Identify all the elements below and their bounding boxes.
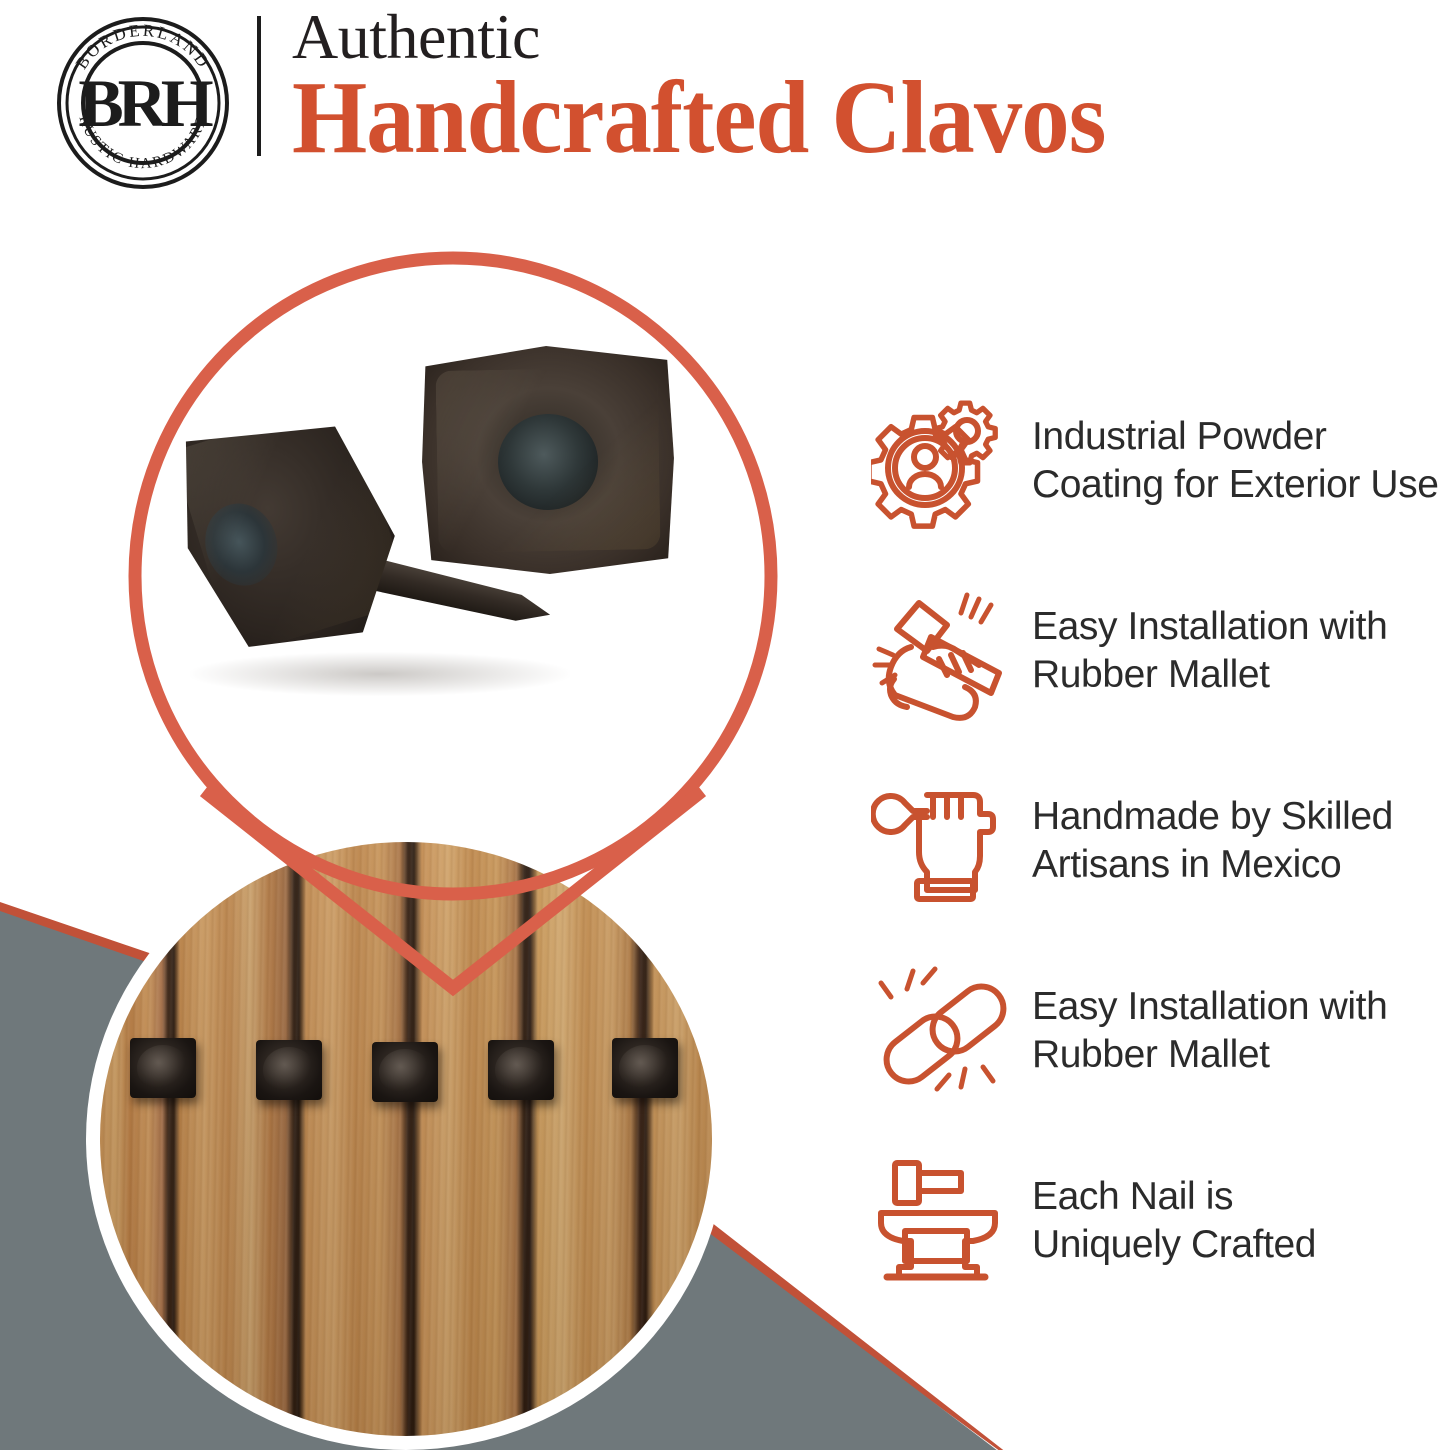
map-pin-outline-icon (108, 246, 798, 1006)
feature-list: Industrial Powder Coating for Exterior U… (860, 366, 1448, 1316)
feature-label: Handmade by Skilled Artisans in Mexico (1032, 793, 1393, 888)
feature-item: Easy Installation with Rubber Mallet (860, 936, 1448, 1126)
header-bar: BORDERLAND RUSTIC HARDWARE BRH Authentic… (0, 0, 1448, 200)
header-divider (257, 16, 261, 156)
borderland-rustic-hardware-seal-icon: BORDERLAND RUSTIC HARDWARE BRH (52, 14, 234, 192)
installed-clavo (612, 1038, 678, 1098)
feature-label: Easy Installation with Rubber Mallet (1032, 603, 1387, 698)
installed-clavo (256, 1040, 322, 1100)
page-title: Handcrafted Clavos (292, 65, 1334, 171)
anvil-hammer-icon (860, 1146, 1032, 1296)
feature-label: Industrial Powder Coating for Exterior U… (1032, 413, 1439, 508)
feature-item: Industrial Powder Coating for Exterior U… (860, 366, 1448, 556)
feature-item: Handmade by Skilled Artisans in Mexico (860, 746, 1448, 936)
title-block: Authentic Handcrafted Clavos (292, 4, 1412, 171)
feature-label: Each Nail is Uniquely Crafted (1032, 1173, 1316, 1268)
installed-clavo (488, 1040, 554, 1100)
hand-hammer-icon (860, 576, 1032, 726)
brand-logo: BORDERLAND RUSTIC HARDWARE BRH (52, 14, 234, 192)
svg-text:BRH: BRH (78, 65, 212, 141)
feature-item: Each Nail is Uniquely Crafted (860, 1126, 1448, 1316)
chain-link-icon (860, 956, 1032, 1106)
feature-label: Easy Installation with Rubber Mallet (1032, 983, 1387, 1078)
installed-clavo (372, 1042, 438, 1102)
gear-person-icon (860, 386, 1032, 536)
feature-item: Easy Installation with Rubber Mallet (860, 556, 1448, 746)
installed-clavo (130, 1038, 196, 1098)
infographic-page: BORDERLAND RUSTIC HARDWARE BRH Authentic… (0, 0, 1448, 1450)
fist-wrench-icon (860, 766, 1032, 916)
installed-clavos-row (100, 1038, 712, 1112)
map-pin-outline (108, 246, 798, 1006)
